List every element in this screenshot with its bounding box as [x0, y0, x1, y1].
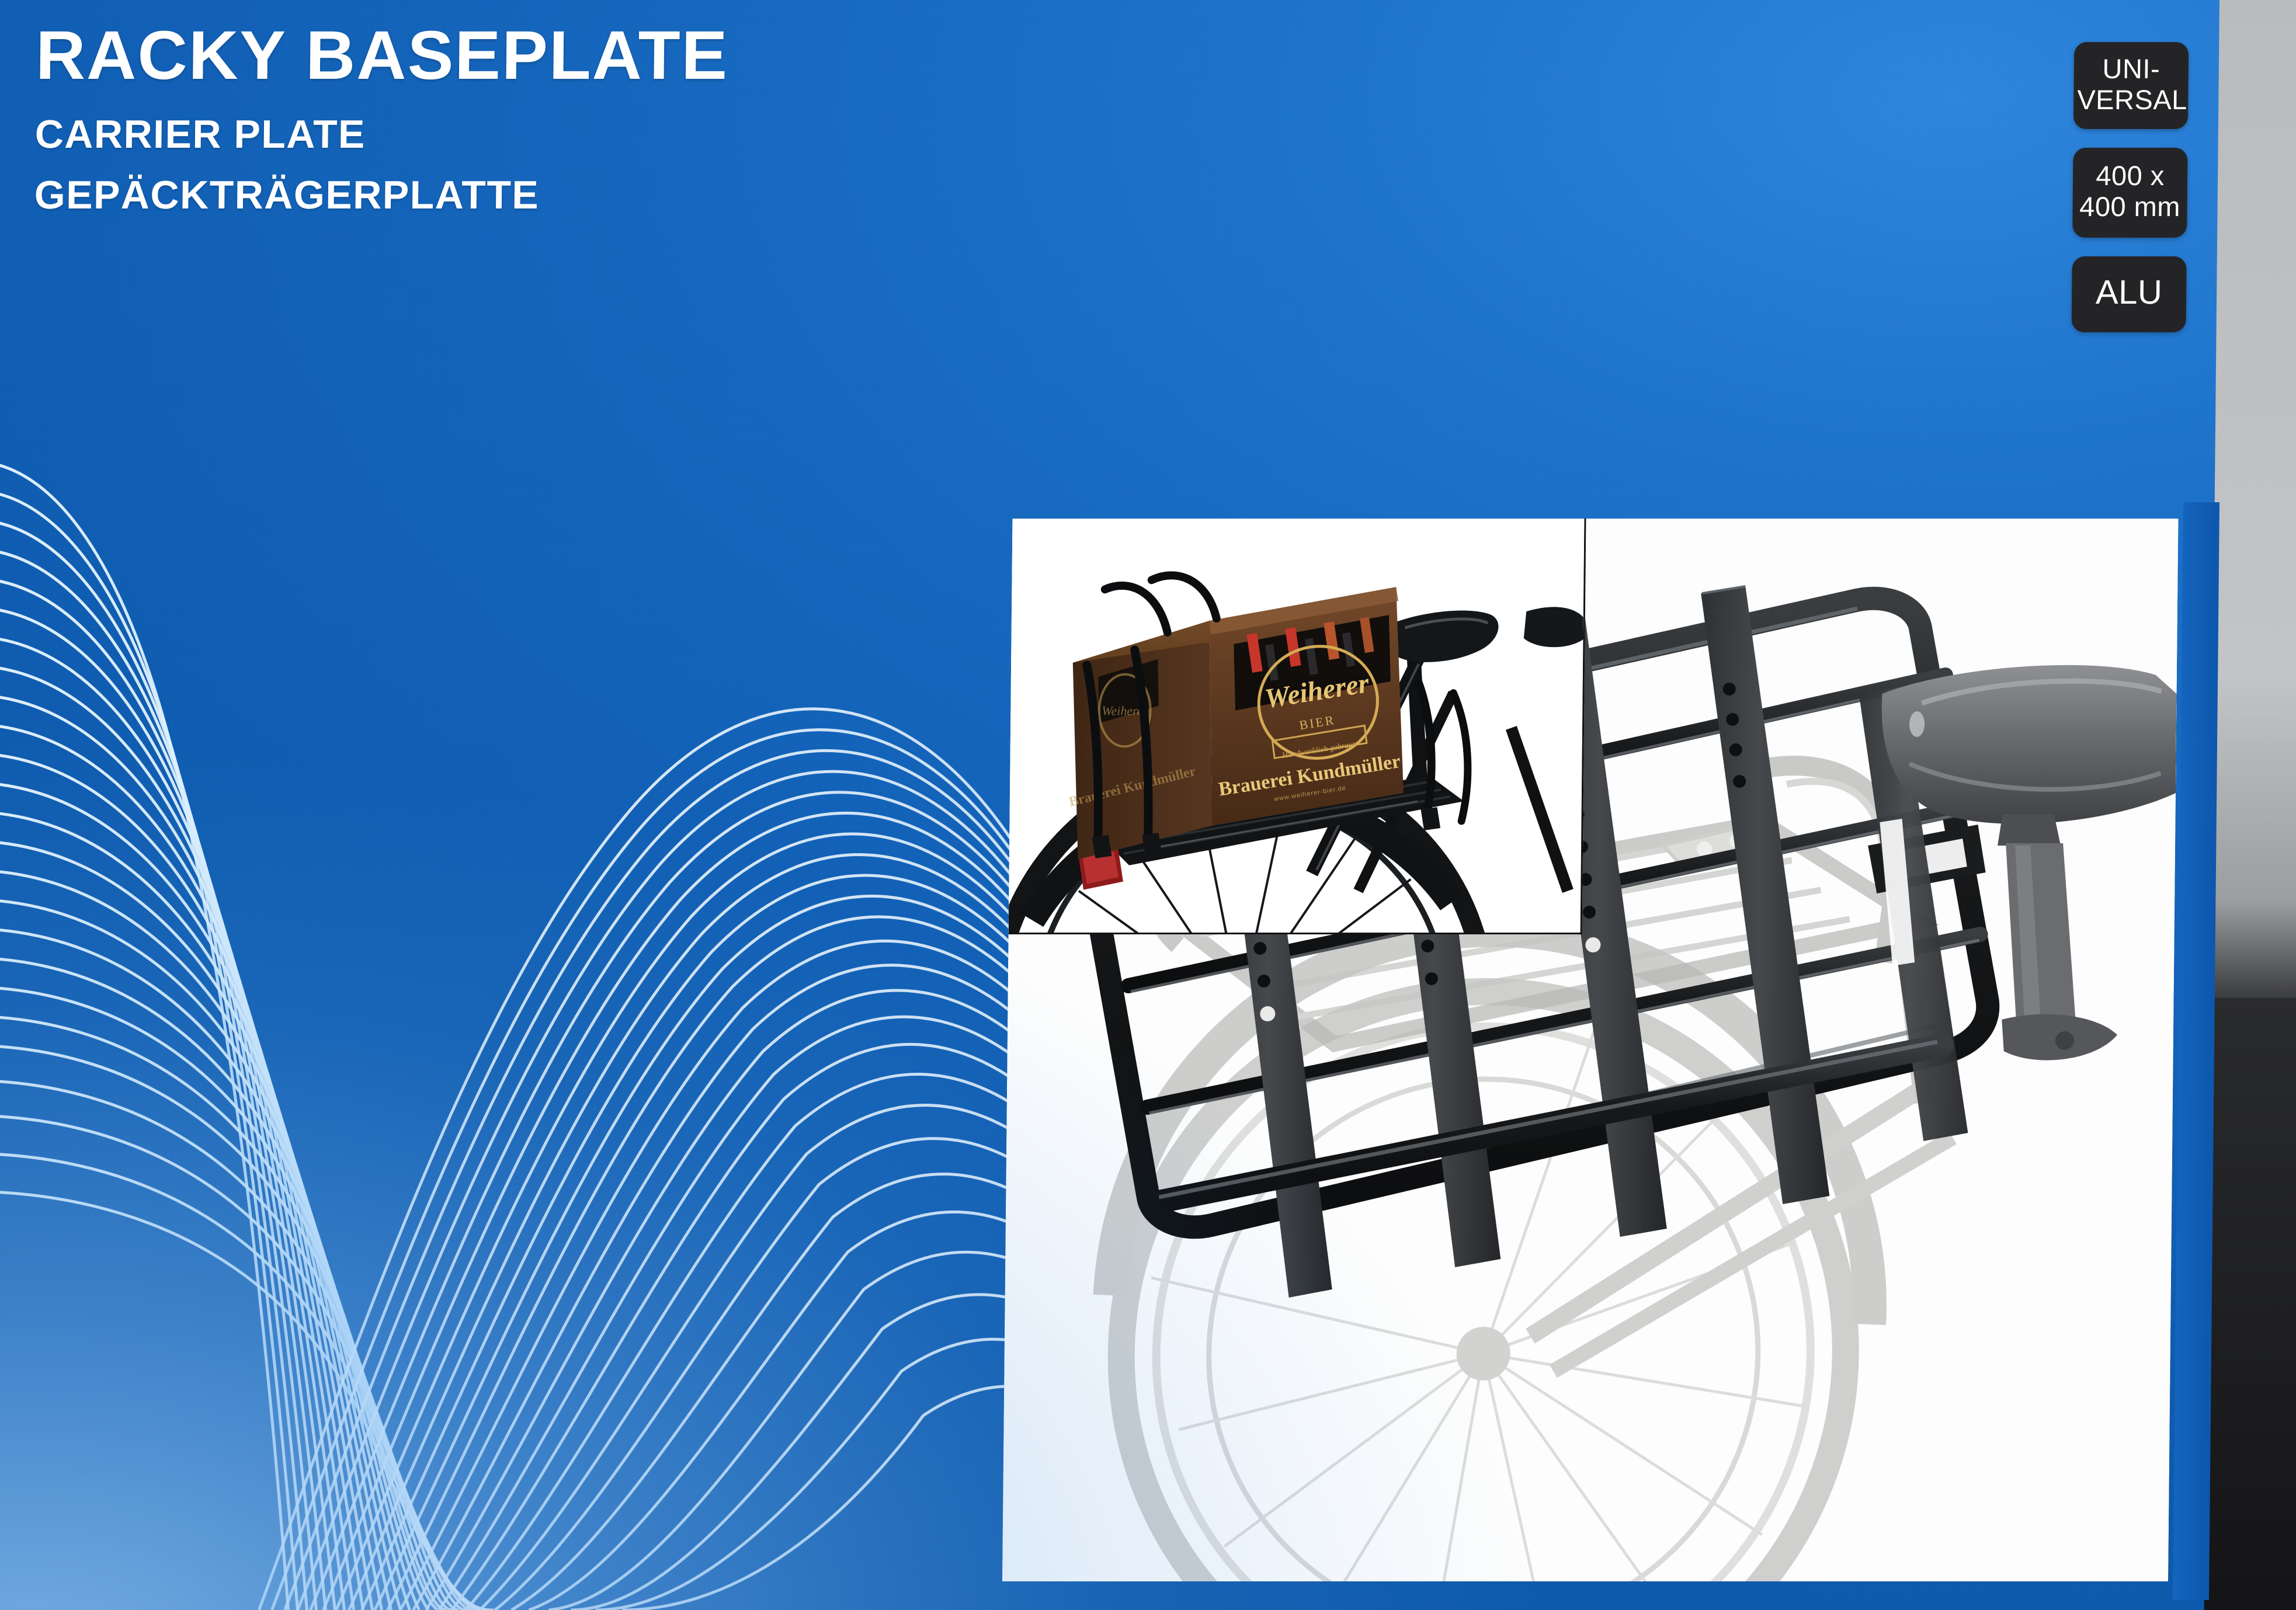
product-packaging-front-face: RACKY BASEPLATE CARRIER PLATE GEPÄCKTRÄG…	[0, 0, 2296, 1610]
product-photo-panel: Weiherer BIER Handwerklich gebraut Braue…	[1002, 519, 2178, 1581]
title-block: RACKY BASEPLATE CARRIER PLATE GEPÄCKTRÄG…	[34, 21, 970, 215]
badge-dimensions: 400 x 400 mm	[2072, 148, 2187, 237]
product-subtitle-en: CARRIER PLATE	[34, 114, 970, 154]
application-example-inset-photo: Weiherer BIER Handwerklich gebraut Braue…	[1009, 519, 1586, 934]
badge-universal: UNI- VERSAL	[2073, 42, 2189, 129]
carton-printed-face: RACKY BASEPLATE CARRIER PLATE GEPÄCKTRÄG…	[0, 0, 2219, 1610]
badge-material: ALU	[2072, 256, 2187, 333]
badge-material-line1: ALU	[2075, 274, 2183, 312]
product-title: RACKY BASEPLATE	[36, 21, 971, 90]
badge-universal-line1: UNI-	[2078, 54, 2186, 85]
badge-dimensions-line1: 400 x	[2076, 161, 2184, 192]
product-subtitle-de: GEPÄCKTRÄGERPLATTE	[34, 175, 969, 215]
spec-badge-group: UNI- VERSAL 400 x 400 mm ALU	[2071, 42, 2189, 351]
badge-dimensions-line2: 400 mm	[2076, 192, 2184, 222]
badge-universal-line2: VERSAL	[2077, 85, 2185, 116]
